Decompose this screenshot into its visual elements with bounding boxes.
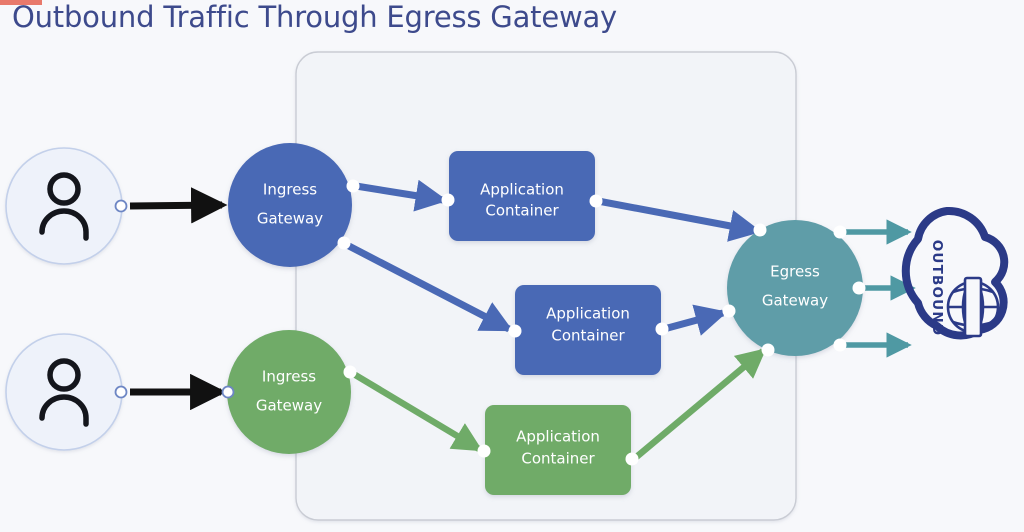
port-out: [626, 453, 639, 466]
port-in-bottom: [762, 344, 775, 357]
user-node-bottom[interactable]: [6, 334, 127, 450]
port-in: [478, 445, 491, 458]
avatar: [6, 148, 122, 264]
egress-gateway-label-line2: Gateway: [762, 292, 828, 310]
ingress-gateway-blue-label-line1: Ingress: [263, 181, 317, 199]
port-in: [442, 194, 455, 207]
flow-user-top-to-ingress-blue: [130, 205, 222, 206]
application-container-1-label-line2: Container: [485, 202, 559, 220]
user-node-top[interactable]: [6, 148, 127, 264]
port-out: [590, 195, 603, 208]
ingress-gateway-green-label-line2: Gateway: [256, 397, 322, 415]
node-shape: [227, 330, 351, 454]
port-in-top: [754, 224, 767, 237]
node-shape: [228, 143, 352, 267]
port-out-top: [834, 226, 847, 239]
application-container-2-label-line2: Container: [551, 327, 625, 345]
application-container-1-label-line1: Application: [480, 181, 564, 199]
application-container-2-label-line1: Application: [546, 305, 630, 323]
port-in-middle: [723, 305, 736, 318]
application-container-1[interactable]: Application Container: [442, 151, 603, 241]
port-in: [509, 325, 522, 338]
port-out-middle: [853, 282, 866, 295]
application-container-2[interactable]: Application Container: [509, 285, 669, 375]
avatar: [6, 334, 122, 450]
port: [116, 201, 127, 212]
port-in: [223, 387, 234, 398]
ingress-gateway-blue-label-line2: Gateway: [257, 210, 323, 228]
cloud-shape: [906, 211, 1004, 336]
application-container-3-label-line1: Application: [516, 428, 600, 446]
port: [116, 387, 127, 398]
port-out-bottom: [338, 237, 351, 250]
application-container-3-label-line2: Container: [521, 450, 595, 468]
port-out-bottom: [834, 339, 847, 352]
application-container-3[interactable]: Application Container: [478, 405, 639, 495]
egress-gateway-label-line1: Egress: [770, 263, 820, 281]
node-shape: [727, 220, 863, 356]
outbound-cloud-label: OUTBOUND: [929, 240, 945, 336]
architecture-diagram: Ingress Gateway Ingress Gateway Applicat…: [0, 0, 1024, 532]
port-out: [656, 323, 669, 336]
port-out-top: [347, 180, 360, 193]
outbound-cloud[interactable]: OUTBOUND: [906, 211, 1004, 336]
port-out: [344, 366, 357, 379]
ingress-gateway-green-label-line1: Ingress: [262, 368, 316, 386]
